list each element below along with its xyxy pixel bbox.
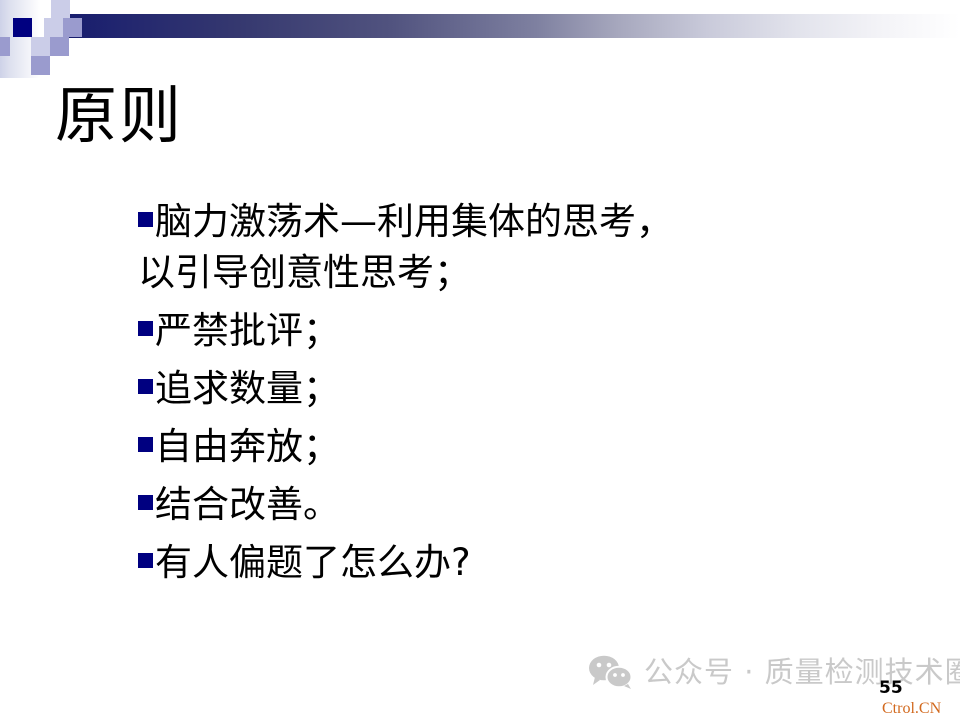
slide-canvas: 原则 脑力激荡术—利用集体的思考，以引导创意性思考； 严禁批评； 追求数量； 自…	[0, 0, 960, 720]
square-bullet-icon	[138, 553, 153, 568]
wechat-icon	[588, 655, 634, 689]
slide-title: 原则	[55, 78, 183, 154]
list-item: 追求数量；	[138, 363, 838, 414]
bullet-text: 结合改善。	[155, 479, 340, 530]
square-bullet-icon	[138, 321, 153, 336]
square-bullet-icon	[138, 495, 153, 510]
square-light-mid	[44, 18, 63, 37]
header-gradient-bar	[57, 14, 960, 38]
bullet-text: 追求数量；	[155, 363, 340, 414]
list-item: 自由奔放；	[138, 421, 838, 472]
slide-number: 55	[879, 678, 903, 698]
watermark: 公众号 · 质量检测技术圈	[588, 655, 960, 689]
square-mid-lower	[50, 37, 69, 56]
credit-label: Ctrol.CN	[882, 700, 941, 718]
square-navy-left	[13, 18, 32, 37]
square-edge-left	[0, 37, 10, 56]
bullet-line-2: 以引导创意性思考；	[138, 247, 835, 298]
bullet-list: 脑力激荡术—利用集体的思考，以引导创意性思考； 严禁批评； 追求数量； 自由奔放…	[138, 196, 838, 595]
square-light-top	[51, 0, 70, 19]
watermark-text: 公众号 · 质量检测技术圈	[644, 655, 960, 689]
square-mid-upper	[63, 18, 82, 37]
list-item: 严禁批评；	[138, 305, 838, 356]
header-decoration	[0, 0, 960, 80]
bullet-text: 严禁批评；	[155, 305, 340, 356]
square-light-lower	[31, 37, 50, 56]
bullet-text: 脑力激荡术—利用集体的思考，以引导创意性思考；	[138, 196, 835, 298]
square-mid-bottom	[31, 56, 50, 75]
list-item: 结合改善。	[138, 479, 838, 530]
list-item: 脑力激荡术—利用集体的思考，以引导创意性思考；	[138, 196, 838, 298]
square-bullet-icon	[138, 437, 153, 452]
bullet-text: 有人偏题了怎么办?	[155, 537, 471, 588]
list-item: 有人偏题了怎么办?	[138, 537, 838, 588]
bullet-line-1: 脑力激荡术—利用集体的思考，	[155, 196, 835, 247]
bullet-text: 自由奔放；	[155, 421, 340, 472]
square-bullet-icon	[138, 379, 153, 394]
